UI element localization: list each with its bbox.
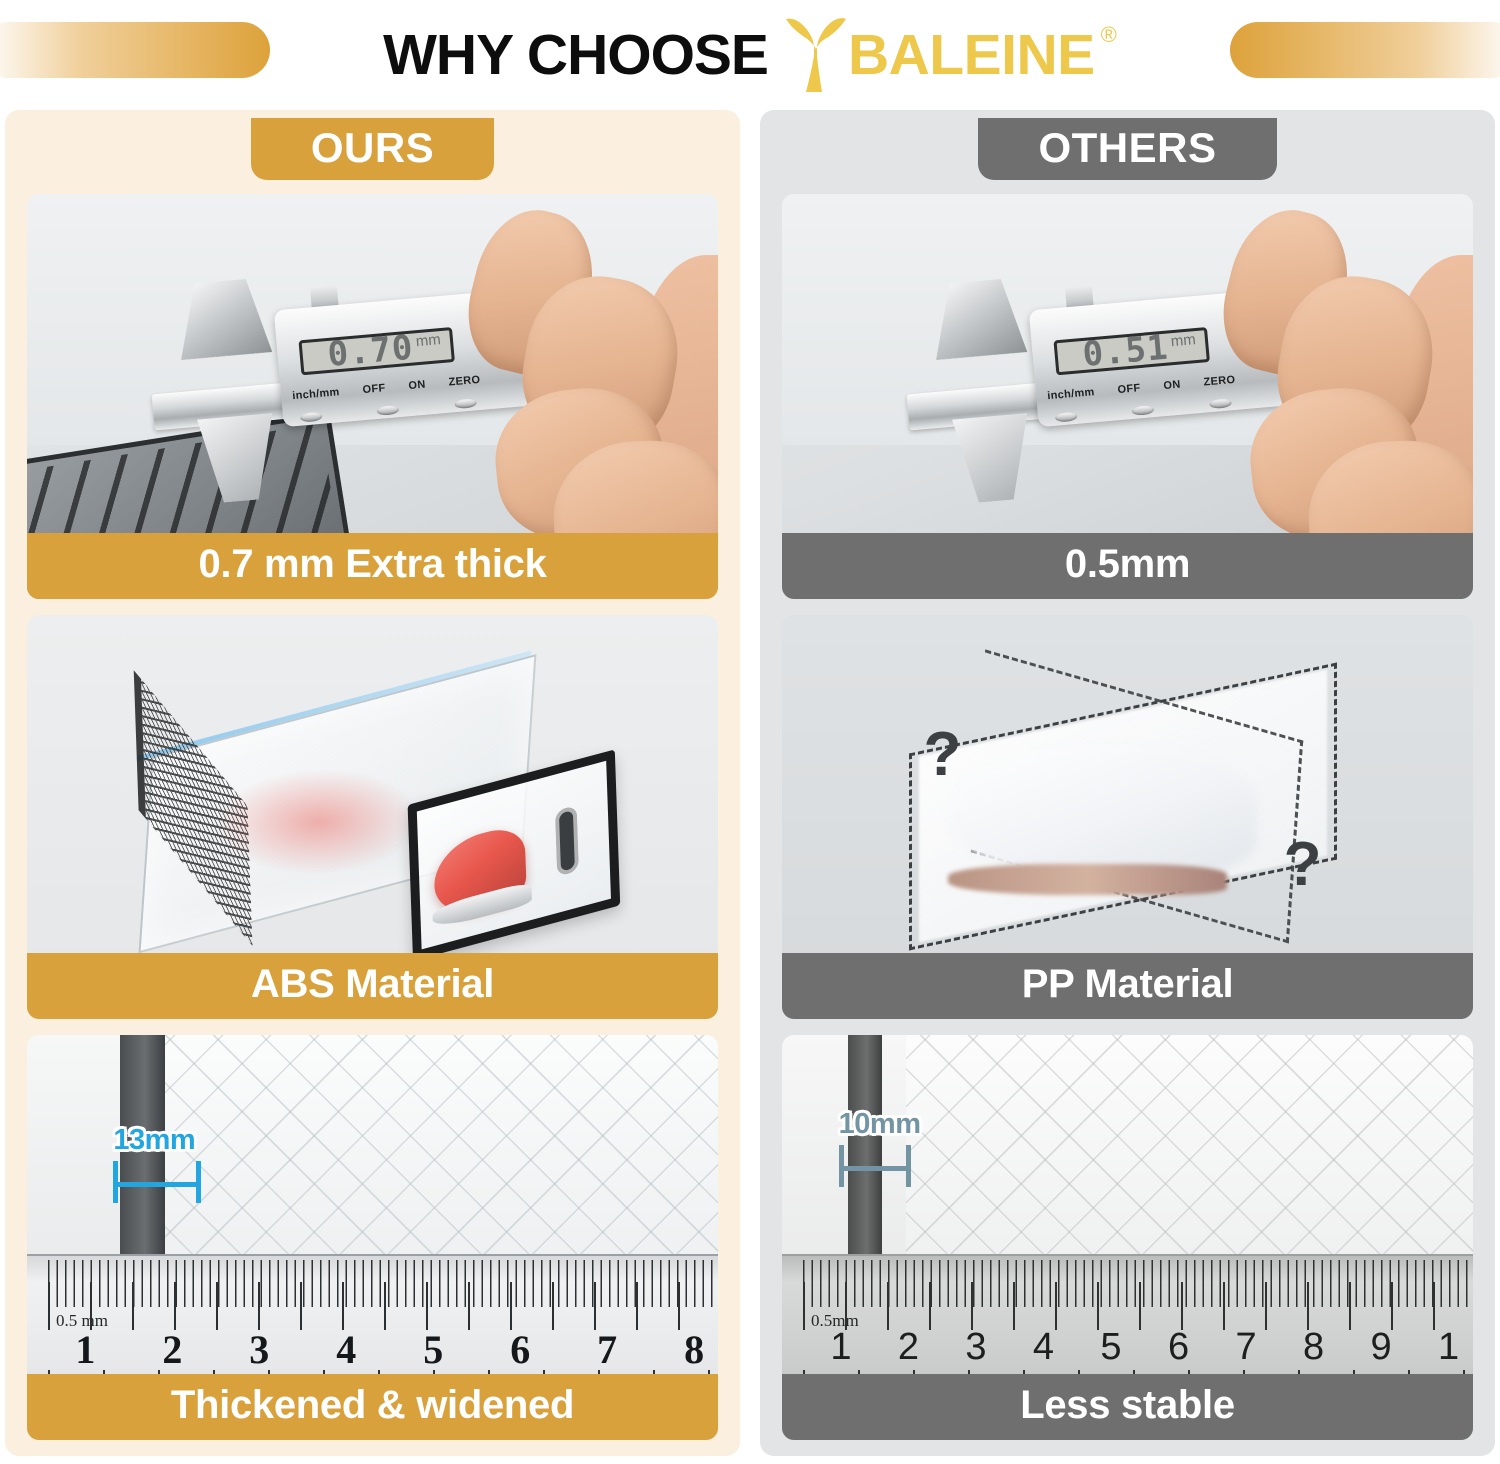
caliper-lower-jaw (952, 414, 1035, 505)
blurred-white-shoe (948, 745, 1256, 880)
caliper-lcd: 0.70 mm (299, 328, 455, 376)
card-ours-stability: 13mm 0.5 mm 1 2 3 4 (27, 1035, 718, 1440)
caliper-lcd: 0.51 mm (1054, 328, 1210, 376)
hand-holding-caliper (455, 210, 718, 582)
red-sneaker (433, 822, 526, 921)
ruler-numbers-ours: 1 2 3 4 5 6 7 8 (75, 1326, 704, 1373)
ruler-number: 5 (1100, 1326, 1121, 1369)
caliper-button-2 (1132, 406, 1155, 417)
pp-shoe-box: ? ? (879, 688, 1377, 947)
page-title-text: WHY CHOOSE (383, 22, 768, 88)
card-caption-ours-thickness: 0.7 mm Extra thick (27, 533, 718, 599)
ruler-number: 6 (1168, 1326, 1189, 1369)
caliper-btn-label-inchmm: inch/mm (1047, 387, 1095, 403)
ruler-number: 3 (249, 1326, 269, 1373)
caliper-lcd-unit: mm (415, 332, 441, 351)
header-decor-bar-right (1230, 22, 1500, 78)
box-door-handle (554, 805, 579, 877)
card-caption-others-stability: Less stable (782, 1374, 1473, 1440)
box-lattice-texture (151, 1035, 718, 1262)
caliper-lcd-value: 0.51 (1082, 332, 1171, 373)
cards-others: 70 0.51 mm inch/mm (782, 194, 1473, 1440)
page-header: WHY CHOOSE BALEINE ® (0, 0, 1500, 110)
column-ours: OURS 70 (5, 110, 740, 1456)
ruler-numbers-others: 1 2 3 4 5 6 7 8 9 1 (830, 1326, 1459, 1369)
question-mark-icon-left: ? (924, 719, 962, 790)
comparison-grid: OURS 70 (0, 110, 1500, 1464)
caliper-btn-label-on: ON (1163, 379, 1181, 392)
ruler-number: 2 (898, 1326, 919, 1369)
abs-shoe-box (120, 683, 626, 951)
ruler-number: 4 (336, 1326, 356, 1373)
card-caption-others-thickness: 0.5mm (782, 533, 1473, 599)
caliper-lcd-value: 0.70 (327, 332, 416, 373)
measurement-bracket (839, 1145, 911, 1187)
caliper-lcd-unit: mm (1170, 332, 1196, 351)
box-lattice-texture (906, 1035, 1473, 1262)
ruler-number: 4 (1033, 1326, 1054, 1369)
card-caption-ours-material: ABS Material (27, 953, 718, 1019)
ruler-major-ticks-top (803, 1282, 1473, 1330)
ruler-major-ticks-top (48, 1282, 718, 1330)
ruler-number: 2 (162, 1326, 182, 1373)
card-others-thickness: 70 0.51 mm inch/mm (782, 194, 1473, 599)
brand-name: BALEINE (848, 22, 1095, 88)
ruler-number: 7 (597, 1326, 617, 1373)
caliper-button-1 (300, 412, 323, 423)
measurement-bracket (113, 1161, 201, 1203)
ruler-number: 1 (75, 1326, 95, 1373)
ruler-number: 1 (1438, 1326, 1459, 1369)
card-caption-others-material: PP Material (782, 953, 1473, 1019)
card-others-stability: 10mm 0.5mm 1 2 3 4 (782, 1035, 1473, 1440)
column-tab-others: OTHERS (978, 118, 1276, 180)
page-title: WHY CHOOSE BALEINE ® (383, 16, 1117, 94)
blurred-shoe-sole (948, 864, 1227, 895)
ruler-number: 7 (1235, 1326, 1256, 1369)
caliper-button-2 (377, 406, 400, 417)
caliper-buttons (1055, 399, 1233, 423)
caliper-btn-label-off: OFF (363, 383, 387, 397)
ruler-number: 8 (684, 1326, 704, 1373)
ruler-number: 5 (423, 1326, 443, 1373)
ruler-number: 6 (510, 1326, 530, 1373)
caliper-button-1 (1055, 412, 1078, 423)
caliper-button-labels: inch/mm OFF ON ZERO (292, 375, 481, 403)
caliper-btn-label-off: OFF (1118, 383, 1142, 397)
measurement-label-13mm: 13mm (113, 1124, 195, 1157)
ruler-number: 9 (1370, 1326, 1391, 1369)
caliper-button-labels: inch/mm OFF ON ZERO (1047, 375, 1236, 403)
measurement-annotation-others: 10mm (839, 1108, 921, 1187)
ruler-number: 3 (965, 1326, 986, 1369)
column-tab-ours: OURS (251, 118, 494, 180)
hand-holding-caliper (1210, 210, 1473, 582)
measurement-annotation-ours: 13mm (113, 1124, 201, 1203)
question-mark-icon-right: ? (1284, 829, 1322, 900)
card-ours-material: ABS Material (27, 615, 718, 1020)
cards-ours: 70 0.70 mm inch/mm (27, 194, 718, 1440)
card-ours-thickness: 70 0.70 mm inch/mm (27, 194, 718, 599)
column-others: OTHERS 70 (760, 110, 1495, 1456)
card-others-material: ? ? PP Material (782, 615, 1473, 1020)
measurement-label-10mm: 10mm (839, 1108, 921, 1141)
card-caption-ours-stability: Thickened & widened (27, 1374, 718, 1440)
registered-trademark-icon: ® (1101, 22, 1117, 48)
caliper-buttons (300, 399, 478, 423)
whale-tail-icon (782, 16, 848, 94)
caliper-btn-label-inchmm: inch/mm (292, 387, 340, 403)
ruler-number: 8 (1303, 1326, 1324, 1369)
brand-lockup: BALEINE ® (782, 16, 1117, 94)
header-decor-bar-left (0, 22, 270, 78)
ruler-number: 1 (830, 1326, 851, 1369)
caliper-btn-label-on: ON (408, 379, 426, 392)
